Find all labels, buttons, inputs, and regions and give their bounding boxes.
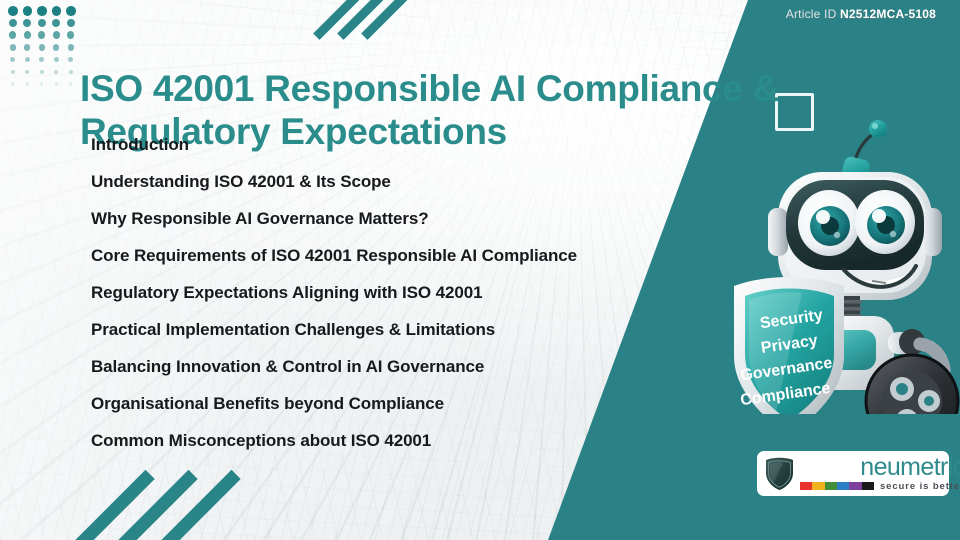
dot xyxy=(40,70,44,74)
logo-color-bar xyxy=(812,482,824,490)
agenda-item[interactable]: Regulatory Expectations Aligning with IS… xyxy=(91,284,691,301)
agenda-item[interactable]: Organisational Benefits beyond Complianc… xyxy=(91,395,691,412)
diagonal-stripes-top-icon xyxy=(330,0,440,38)
shield-icon: Security Privacy Governance Compliance xyxy=(734,277,844,414)
agenda-item[interactable]: Core Requirements of ISO 42001 Responsib… xyxy=(91,247,691,264)
agenda-item[interactable]: Why Responsible AI Governance Matters? xyxy=(91,210,691,227)
agenda-item[interactable]: Practical Implementation Challenges & Li… xyxy=(91,321,691,338)
logo-color-bar xyxy=(800,482,812,490)
robot-antenna-bulb xyxy=(869,120,887,138)
agenda-item[interactable]: Understanding ISO 42001 & Its Scope xyxy=(91,173,691,190)
logo-wordmark: neumetric xyxy=(800,456,960,479)
dot xyxy=(52,6,62,16)
logo-sub-row: secure is better xyxy=(800,481,960,492)
robot-ear-left xyxy=(768,208,788,256)
slide-canvas: Article ID N2512MCA-5108 ISO 42001 Respo… xyxy=(0,0,960,540)
dot xyxy=(68,57,73,62)
dot xyxy=(11,70,15,74)
robot-ear-right xyxy=(922,208,942,256)
dot xyxy=(54,57,59,62)
logo-color-bar xyxy=(837,482,849,490)
agenda-item[interactable]: Balancing Innovation & Control in AI Gov… xyxy=(91,358,691,375)
dot xyxy=(9,31,16,38)
dot xyxy=(24,31,31,38)
article-id: Article ID N2512MCA-5108 xyxy=(786,7,936,21)
dot xyxy=(8,6,18,16)
dot xyxy=(38,19,46,27)
agenda-list: IntroductionUnderstanding ISO 42001 & It… xyxy=(91,136,691,449)
article-id-value: N2512MCA-5108 xyxy=(840,7,936,21)
dot xyxy=(37,6,47,16)
logo-color-bar xyxy=(825,482,837,490)
dot xyxy=(24,44,30,50)
dot xyxy=(66,6,76,16)
neumetric-logo[interactable]: neumetric secure is better xyxy=(757,451,949,496)
article-id-label: Article ID xyxy=(786,7,837,21)
agenda-item[interactable]: Introduction xyxy=(91,136,691,153)
diagonal-stripes-bottom-icon xyxy=(104,452,234,540)
dot xyxy=(10,44,16,50)
logo-color-bar xyxy=(862,482,874,490)
dot xyxy=(54,70,58,74)
dot xyxy=(10,57,15,62)
dot xyxy=(52,19,60,27)
logo-color-bar xyxy=(849,482,861,490)
logo-tagline: secure is better xyxy=(880,481,960,492)
dot xyxy=(26,82,29,85)
dot xyxy=(39,57,44,62)
dot xyxy=(53,44,59,50)
dot xyxy=(25,70,29,74)
dot xyxy=(23,19,31,27)
dot xyxy=(67,31,74,38)
agenda-item[interactable]: Common Misconceptions about ISO 42001 xyxy=(91,432,691,449)
dot xyxy=(39,44,45,50)
logo-text-block: neumetric secure is better xyxy=(800,456,960,492)
dot xyxy=(38,31,45,38)
dot xyxy=(53,31,60,38)
dot xyxy=(55,82,58,85)
dot xyxy=(23,6,33,16)
dot xyxy=(25,57,30,62)
dot xyxy=(69,70,73,74)
dot-grid-icon xyxy=(8,6,82,82)
dot xyxy=(67,19,75,27)
shield-logo-icon xyxy=(764,456,795,491)
dot xyxy=(9,19,17,27)
dot xyxy=(68,44,74,50)
logo-color-bars-icon xyxy=(800,482,874,490)
